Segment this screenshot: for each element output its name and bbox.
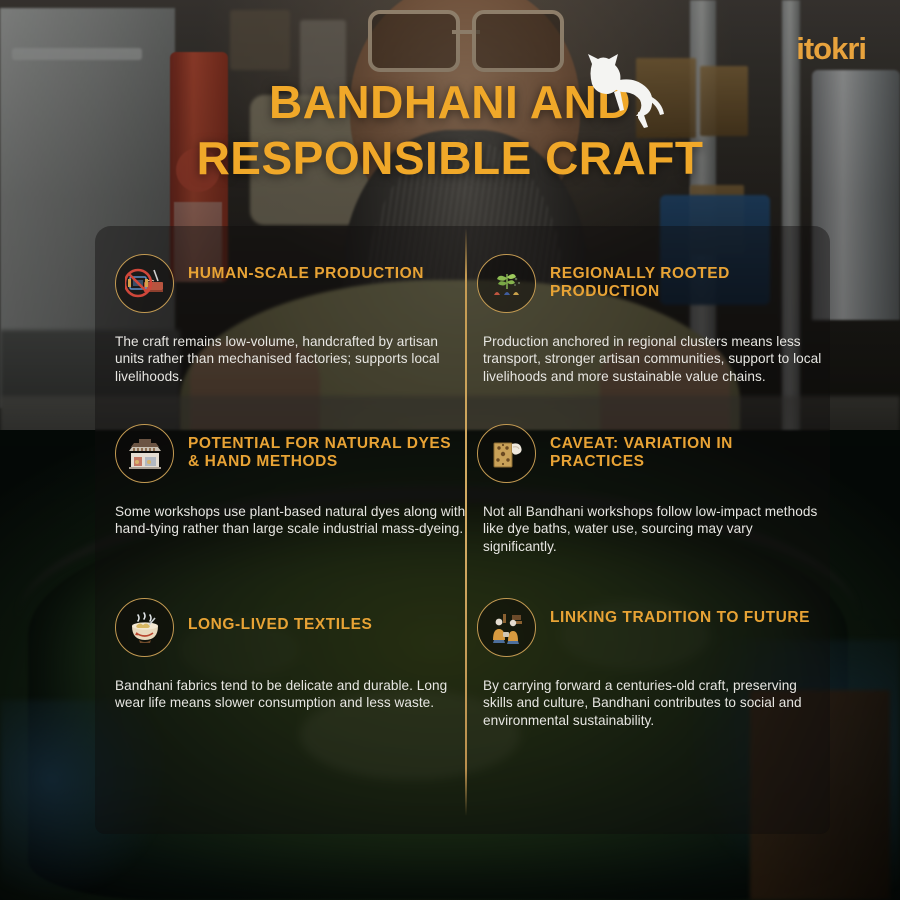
no-machine-production-icon (115, 254, 174, 313)
card-body: Bandhani fabrics tend to be delicate and… (115, 677, 467, 712)
brand-logo[interactable]: itokri (796, 33, 866, 64)
card-body: Not all Bandhani workshops follow low-im… (483, 503, 829, 555)
card-regionally-rooted-production: REGIONALLY ROOTED PRODUCTION Production … (477, 252, 829, 385)
card-header: HUMAN-SCALE PRODUCTION (115, 252, 467, 313)
card-header: POTENTIAL FOR NATURAL DYES & HAND METHOD… (115, 422, 467, 483)
card-header: REGIONALLY ROOTED PRODUCTION (477, 252, 829, 313)
card-title: LINKING TRADITION TO FUTURE (550, 596, 810, 627)
card-title: CAVEAT: VARIATION IN PRACTICES (550, 422, 829, 471)
card-linking-tradition-to-future: LINKING TRADITION TO FUTURE By carrying … (477, 596, 829, 729)
cat-silhouette-icon (578, 52, 664, 130)
card-title: HUMAN-SCALE PRODUCTION (188, 252, 424, 283)
fabric-swatch-hand-icon (477, 424, 536, 483)
card-body: By carrying forward a centuries-old craf… (483, 677, 829, 729)
card-natural-dyes-hand-methods: POTENTIAL FOR NATURAL DYES & HAND METHOD… (115, 422, 467, 538)
page-title-line-1: BANDHANI AND (269, 76, 631, 128)
page-title: BANDHANI AND RESPONSIBLE CRAFT (0, 74, 900, 186)
infographic-canvas: itokri BANDHANI AND RESPONSIBLE CRAFT (0, 0, 900, 900)
page-title-line-2: RESPONSIBLE CRAFT (0, 130, 900, 186)
card-body: Some workshops use plant-based natural d… (115, 503, 467, 538)
card-title: LONG-LIVED TEXTILES (188, 596, 372, 634)
two-artisans-icon (477, 598, 536, 657)
card-header: LINKING TRADITION TO FUTURE (477, 596, 829, 657)
card-body: Production anchored in regional clusters… (483, 333, 829, 385)
card-caveat-variation-in-practices: CAVEAT: VARIATION IN PRACTICES Not all B… (477, 422, 829, 555)
card-title: REGIONALLY ROOTED PRODUCTION (550, 252, 829, 301)
card-header: CAVEAT: VARIATION IN PRACTICES (477, 422, 829, 483)
card-long-lived-textiles: LONG-LIVED TEXTILES Bandhani fabrics ten… (115, 596, 467, 712)
workshop-building-icon (115, 424, 174, 483)
cards-grid: HUMAN-SCALE PRODUCTION The craft remains… (95, 226, 830, 834)
plant-sprout-dye-icon (477, 254, 536, 313)
card-header: LONG-LIVED TEXTILES (115, 596, 467, 657)
steaming-dye-pot-icon (115, 598, 174, 657)
card-body: The craft remains low-volume, handcrafte… (115, 333, 467, 385)
card-human-scale-production: HUMAN-SCALE PRODUCTION The craft remains… (115, 252, 467, 385)
card-title: POTENTIAL FOR NATURAL DYES & HAND METHOD… (188, 422, 467, 471)
